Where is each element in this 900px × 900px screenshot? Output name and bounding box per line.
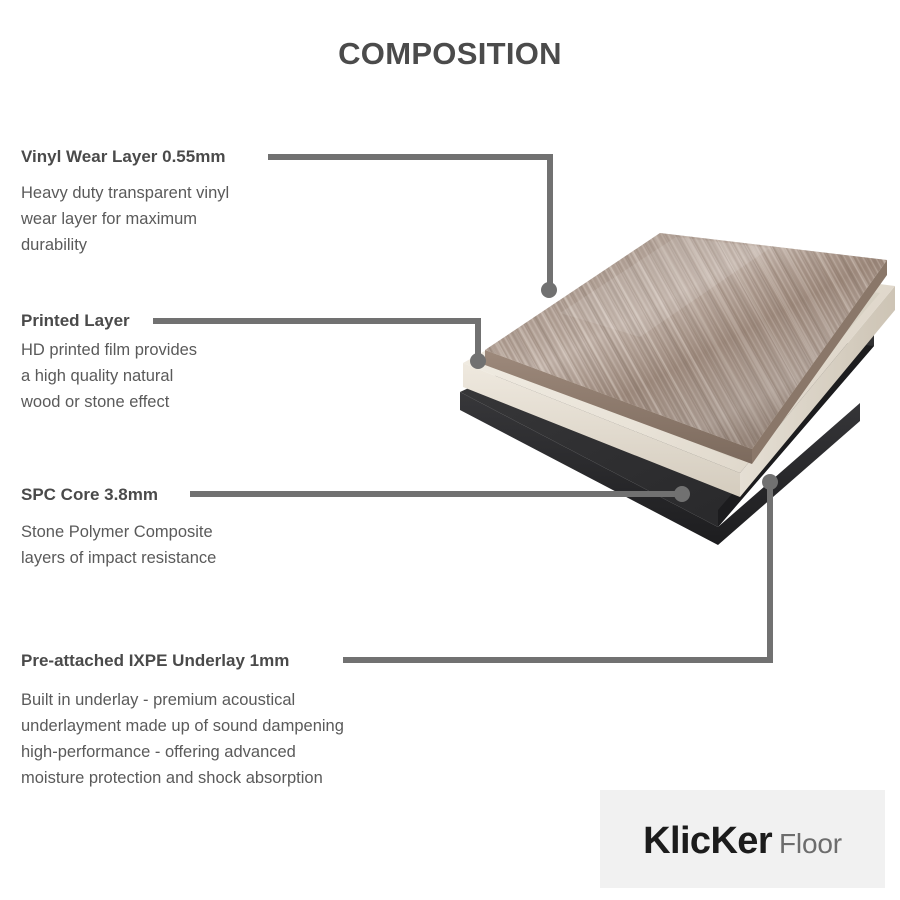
callout-body-line: underlayment made up of sound dampening [21,713,344,739]
callout-body-line: durability [21,232,229,258]
composition-infographic: COMPOSITION [0,0,900,900]
callout-heading: SPC Core 3.8mm [21,485,216,505]
callout-body-line: wood or stone effect [21,389,197,415]
callout-body-line: Heavy duty transparent vinyl [21,180,229,206]
callout-printed-layer: Printed Layer HD printed film provides a… [21,311,197,415]
brand-logo: KlicKer Floor [600,790,885,888]
callout-body-line: a high quality natural [21,363,197,389]
callout-body-line: HD printed film provides [21,337,197,363]
callout-body-line: wear layer for maximum [21,206,229,232]
brand-logo-sub: Floor [779,828,842,860]
callout-ixpe-underlay: Pre-attached IXPE Underlay 1mm Built in … [21,651,344,791]
product-illustration [440,215,895,565]
callout-body: HD printed film provides a high quality … [21,337,197,415]
brand-logo-main: KlicKer [643,820,772,863]
callout-body-line: Built in underlay - premium acoustical [21,687,344,713]
callout-vinyl-wear-layer: Vinyl Wear Layer 0.55mm Heavy duty trans… [21,147,229,258]
callout-heading: Vinyl Wear Layer 0.55mm [21,147,229,167]
callout-body-line: moisture protection and shock absorption [21,765,344,791]
callout-body: Heavy duty transparent vinyl wear layer … [21,180,229,258]
callout-body-line: Stone Polymer Composite [21,519,216,545]
callout-body: Built in underlay - premium acoustical u… [21,687,344,791]
callout-spc-core: SPC Core 3.8mm Stone Polymer Composite l… [21,485,216,571]
callout-heading: Pre-attached IXPE Underlay 1mm [21,651,344,671]
page-title: COMPOSITION [0,36,900,72]
connector-printed [153,321,478,358]
callout-body: Stone Polymer Composite layers of impact… [21,519,216,571]
callout-body-line: high-performance - offering advanced [21,739,344,765]
callout-body-line: layers of impact resistance [21,545,216,571]
callout-heading: Printed Layer [21,311,197,331]
